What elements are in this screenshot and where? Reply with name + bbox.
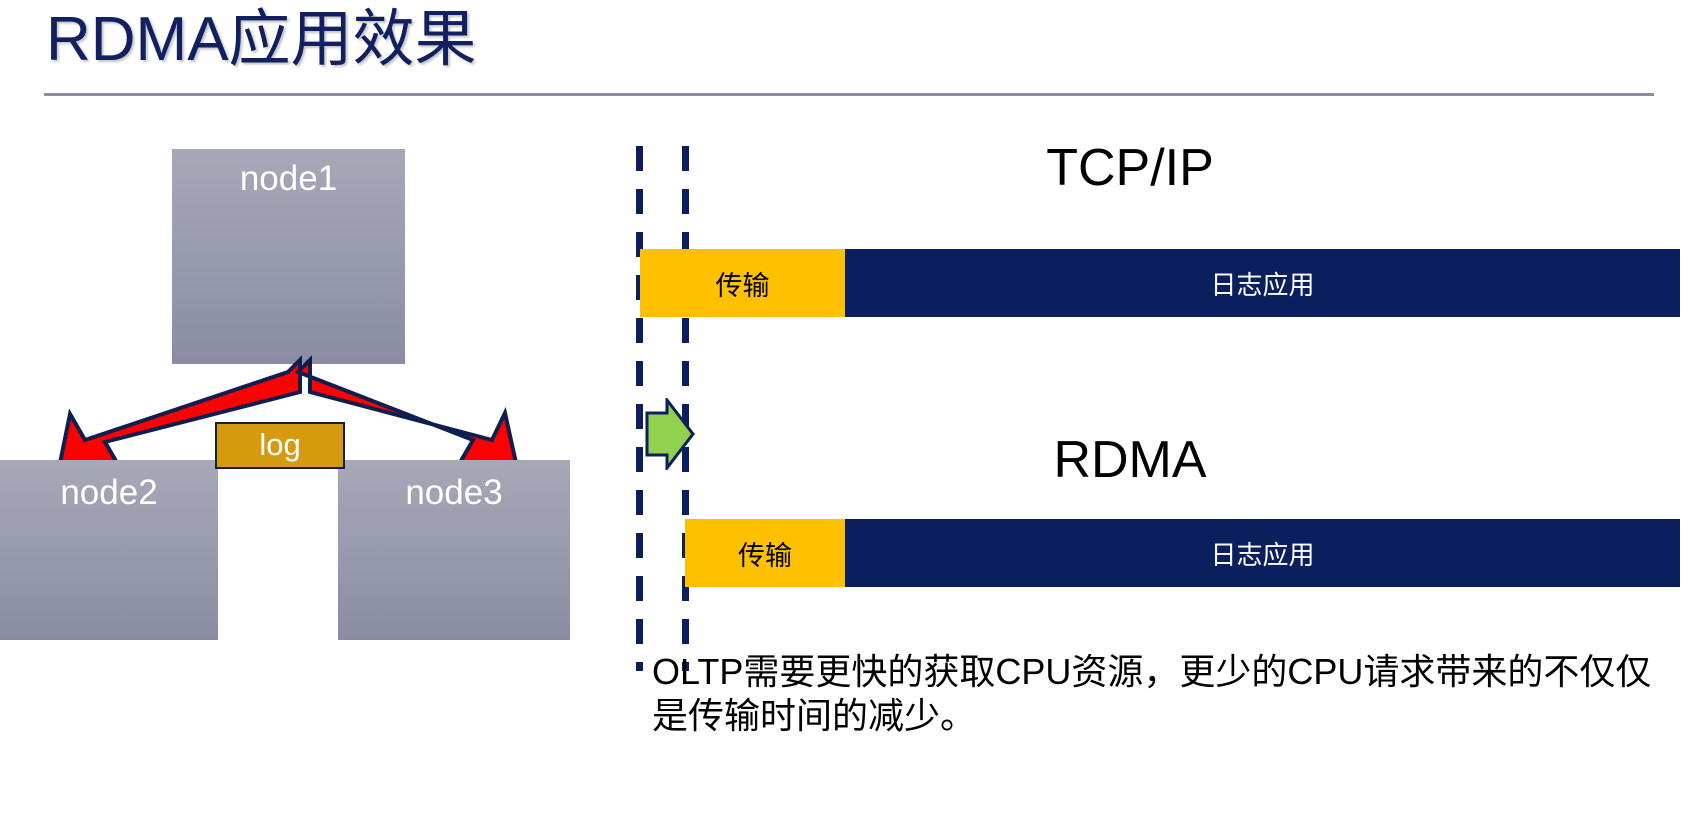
tcpip-timeline-bar: 传输 日志应用 — [640, 249, 1680, 317]
tcpip-app-segment: 日志应用 — [845, 249, 1680, 317]
tcpip-app-label: 日志应用 — [1210, 265, 1314, 302]
rdma-label: RDMA — [880, 430, 1380, 490]
guide-line-start — [636, 146, 643, 671]
log-box: log — [215, 422, 345, 469]
node3-label: node3 — [405, 473, 502, 512]
page-title: RDMA应用效果 — [46, 2, 477, 78]
node-box-node3: node3 — [338, 460, 570, 640]
title-divider — [44, 93, 1654, 96]
tcpip-transfer-label: 传输 — [716, 264, 770, 303]
improvement-arrow-icon — [643, 398, 695, 470]
tcpip-label: TCP/IP — [880, 138, 1380, 198]
rdma-app-segment: 日志应用 — [845, 519, 1680, 587]
rdma-timeline-bar: 传输 日志应用 — [685, 519, 1680, 587]
rdma-app-label: 日志应用 — [1210, 535, 1314, 572]
node2-label: node2 — [60, 473, 157, 512]
log-label: log — [259, 427, 300, 462]
node-box-node1: node1 — [172, 149, 405, 364]
rdma-transfer-segment: 传输 — [685, 519, 845, 587]
node-box-node2: node2 — [0, 460, 218, 640]
tcpip-transfer-segment: 传输 — [640, 249, 845, 317]
rdma-transfer-label: 传输 — [738, 534, 792, 573]
node1-label: node1 — [240, 159, 337, 198]
footnote-text: OLTP需要更快的获取CPU资源，更少的CPU请求带来的不仅仅是传输时间的减少。 — [652, 650, 1652, 738]
